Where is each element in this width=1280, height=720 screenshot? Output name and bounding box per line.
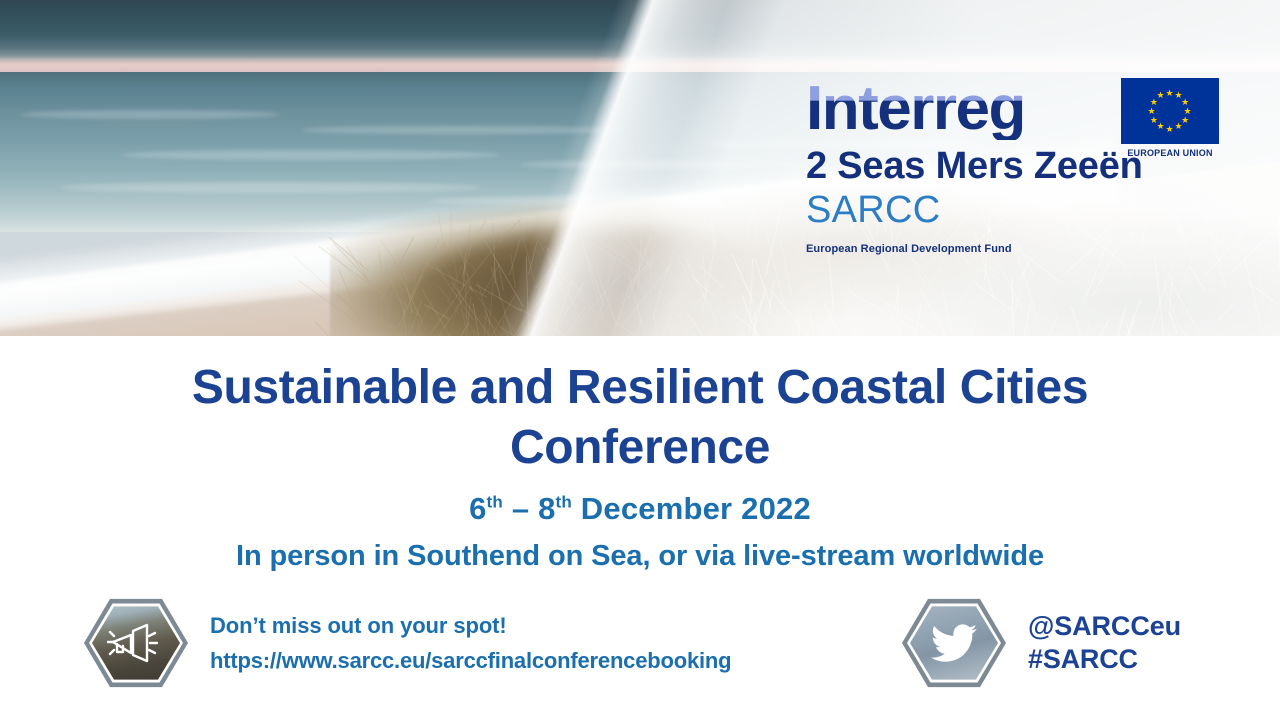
twitter-handle[interactable]: @SARCCeu bbox=[1028, 611, 1181, 642]
fund-name: European Regional Development Fund bbox=[806, 243, 1226, 255]
page-title: Sustainable and Resilient Coastal Cities… bbox=[0, 336, 1280, 477]
eu-star-icon: ★ bbox=[1148, 107, 1156, 116]
hero-banner: Interreg 2 Seas Mers Zeeën SARCC Europea… bbox=[0, 0, 1280, 336]
date-day-start: 6 bbox=[469, 491, 486, 526]
social-text: @SARCCeu #SARCC bbox=[1028, 611, 1181, 675]
project-name: SARCC bbox=[806, 190, 1226, 232]
date-ordinal-end: th bbox=[556, 493, 572, 512]
title-line-2: Conference bbox=[510, 421, 770, 474]
date-day-end: 8 bbox=[538, 491, 555, 526]
booking-text: Don’t miss out on your spot! https://www… bbox=[210, 613, 731, 674]
event-format-subtitle: In person in Southend on Sea, or via liv… bbox=[0, 540, 1280, 573]
eu-star-icon: ★ bbox=[1166, 125, 1174, 134]
eu-star-icon: ★ bbox=[1150, 116, 1158, 125]
eu-emblem: ★★★★★★★★★★★★ EUROPEAN UNION bbox=[1116, 78, 1224, 158]
megaphone-badge bbox=[84, 596, 188, 690]
twitter-badge[interactable] bbox=[902, 596, 1006, 690]
eu-star-icon: ★ bbox=[1175, 122, 1183, 131]
interreg-logo: Interreg 2 Seas Mers Zeeën SARCC Europea… bbox=[806, 78, 1226, 283]
date-month-year: December 2022 bbox=[572, 491, 811, 526]
conference-dates: 6th – 8th December 2022 bbox=[0, 491, 1280, 527]
footer-area: Don’t miss out on your spot! https://www… bbox=[0, 592, 1280, 720]
booking-headline: Don’t miss out on your spot! bbox=[210, 613, 731, 639]
twitter-bird-icon bbox=[902, 596, 1006, 690]
title-line-1: Sustainable and Resilient Coastal Cities bbox=[192, 361, 1088, 414]
date-ordinal-start: th bbox=[487, 493, 503, 512]
eu-flag-label: EUROPEAN UNION bbox=[1116, 148, 1224, 158]
eu-star-icon: ★ bbox=[1157, 91, 1165, 100]
megaphone-icon bbox=[84, 596, 188, 690]
eu-flag-icon: ★★★★★★★★★★★★ bbox=[1121, 78, 1219, 144]
booking-url[interactable]: https://www.sarcc.eu/sarccfinalconferenc… bbox=[210, 648, 731, 674]
social-block: @SARCCeu #SARCC bbox=[902, 596, 1181, 690]
booking-block: Don’t miss out on your spot! https://www… bbox=[84, 596, 731, 690]
eu-star-icon: ★ bbox=[1166, 89, 1174, 98]
date-dash: – bbox=[503, 491, 538, 526]
twitter-hashtag[interactable]: #SARCC bbox=[1028, 644, 1181, 675]
